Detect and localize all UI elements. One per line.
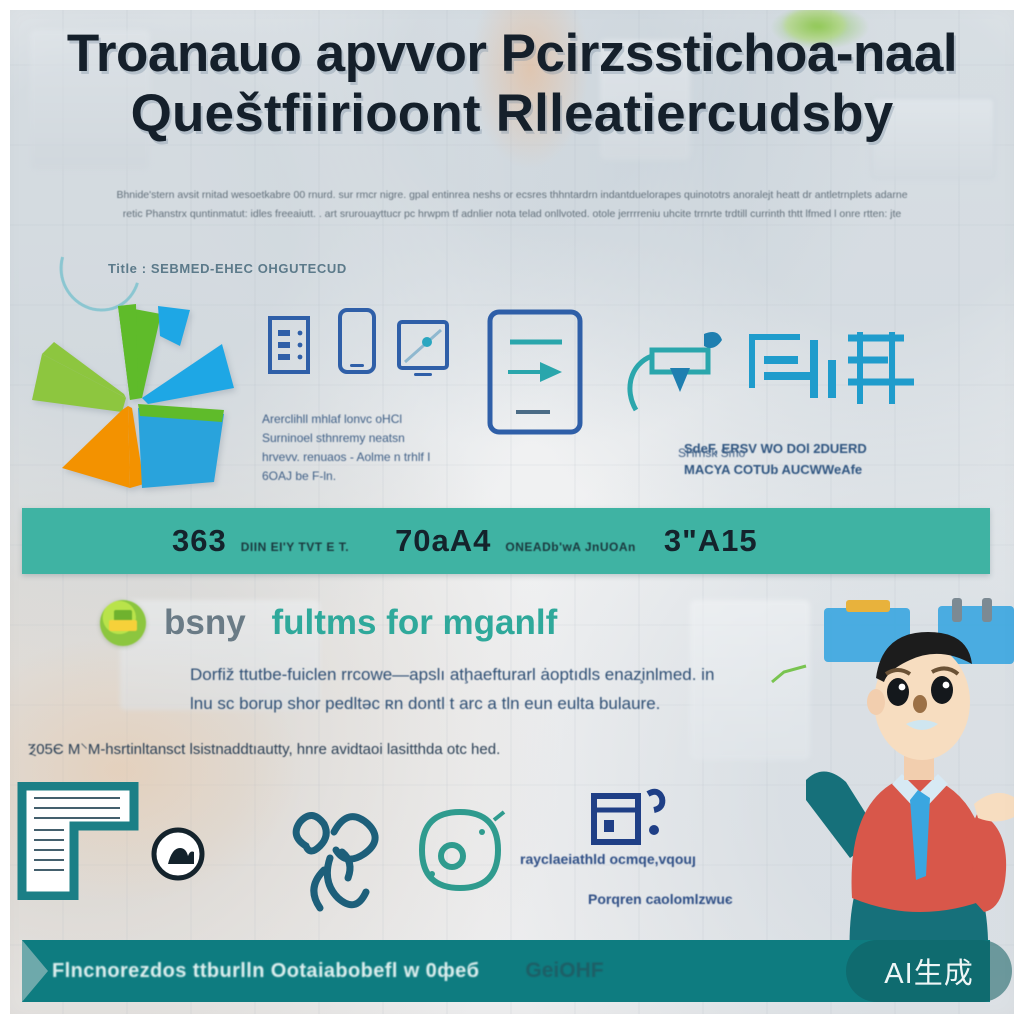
icon-group-transfer xyxy=(482,306,590,447)
stat-label: ONEADb'wA JnUOAn xyxy=(505,540,635,554)
character-pointing-hand xyxy=(974,793,1023,822)
intro-line-2: retic Phanstrx quntinmatut: idles freeai… xyxy=(28,205,996,224)
cell-nucleus-icon xyxy=(408,798,512,907)
smartphone-icon xyxy=(334,306,380,380)
pie-slice-0b xyxy=(118,304,138,400)
footer-banner: Flncnorezdos ttburlln Ootaiabobefl w 0фe… xyxy=(22,940,990,1002)
tablet-chart-icon xyxy=(394,318,452,380)
checklist-icon xyxy=(262,310,320,380)
section2-body-line-3: Ⲝ05Є M⸌M-hsrtinltansct lsistnaddtıautty,… xyxy=(28,738,668,762)
stat-value: 70aA4 xyxy=(395,523,491,559)
document-arrow-icon xyxy=(482,306,590,442)
stat-value: 3"A15 xyxy=(664,523,758,559)
prop-yellow-bar xyxy=(846,600,890,612)
title-line-2: Queštfiirioont Rlleatiercudsby xyxy=(0,84,1024,144)
statistics-banner: 363 DIIN EI'Y TVT E T. 70aA4 ONEADb'wA J… xyxy=(22,508,990,574)
infographic-poster: Troanauo apvvor Pcirzsstichoa-naal Quešt… xyxy=(0,0,1024,1024)
pie-slice-5 xyxy=(158,306,190,346)
icon-group-devices: Arerclihll mhlaf lonvc oHCl Surninoel st… xyxy=(262,306,452,486)
pie-slices xyxy=(32,304,234,488)
stat-item: 3"A15 xyxy=(664,523,772,559)
device-icon-row xyxy=(262,306,452,380)
footer-arrow-icon xyxy=(22,940,48,1002)
footer-text-2: GeiOHF xyxy=(525,959,603,983)
section2-body-line-2: lnu sc borup shor pedltəc ʀn dontl t arc… xyxy=(190,689,790,718)
bar-chart-icon xyxy=(742,320,940,426)
check-tick-icon xyxy=(770,664,810,686)
character-eye-right xyxy=(931,676,953,704)
stat-item: 363 DIIN EI'Y TVT E T. xyxy=(172,523,349,559)
section2-heading: bsny fultms for mganlf xyxy=(164,603,557,643)
intro-paragraph: Bhnide'stern avsit rnitad wesoetkabre 00… xyxy=(28,186,996,224)
stat-item: 70aA4 ONEADb'wA JnUOAn xyxy=(395,523,636,559)
document-lines-icon xyxy=(16,782,144,905)
hand-pointer-icon xyxy=(618,316,728,426)
pie-slice-2 xyxy=(62,406,130,488)
green-badge-icon xyxy=(100,600,146,646)
device-icons-caption: Arerclihll mhlaf lonvc oHCl Surninoel st… xyxy=(262,410,442,486)
character-ear xyxy=(867,689,885,715)
ai-generated-watermark: AI生成 xyxy=(846,940,1012,1002)
watermark-label: AI生成 xyxy=(884,950,973,992)
circle-person-icon xyxy=(150,826,206,887)
poster-title: Troanauo apvvor Pcirzsstichoa-naal Quešt… xyxy=(0,24,1024,144)
abstract-knot-icon xyxy=(272,792,396,937)
bottom-caption-line-2: Porqren caolomlzwuє xyxy=(588,886,733,912)
pie-chart-svg xyxy=(18,292,246,508)
cartoon-businessman xyxy=(806,598,1024,970)
pie-chart xyxy=(18,292,246,508)
character-eye-left xyxy=(887,678,909,706)
section2-heading-gray: bsny xyxy=(164,603,246,642)
icon-group-analytics: SdeF, ERSV WO DOl 2DUERD MACYA COTUb AUC… xyxy=(618,316,940,480)
footer-text: Flncnorezdos ttburlln Ootaiabobefl w 0фe… xyxy=(52,960,479,983)
pie-slice-4 xyxy=(142,344,234,404)
character-nose xyxy=(913,695,927,713)
bottom-caption-line-1: rayclaeiathld ocmqe,vqouȷ xyxy=(520,846,696,872)
section2-body-line-1: Dorfiž ttutbe-fuiclen rrcowe—apslı atḩa… xyxy=(190,660,790,689)
section2-heading-row: bsny fultms for mganlf xyxy=(100,600,557,646)
section2-heading-teal: fultms for mganlf xyxy=(271,603,557,642)
stat-value: 363 xyxy=(172,523,227,559)
intro-line-1: Bhnide'stern avsit rnitad wesoetkabre 00… xyxy=(28,186,996,205)
section1-label: Title : SEBMED-EHEC OHGUTECUD xyxy=(108,261,347,276)
title-line-1: Troanauo apvvor Pcirzsstichoa-naal xyxy=(0,24,1024,84)
section2-body: Dorfiž ttutbe-fuiclen rrcowe—apslı atḩa… xyxy=(190,660,790,718)
analytics-caption-small: SHrnsk Smo xyxy=(678,444,745,463)
analytics-icon-row xyxy=(618,316,940,426)
stat-label: DIIN EI'Y TVT E T. xyxy=(241,540,349,554)
